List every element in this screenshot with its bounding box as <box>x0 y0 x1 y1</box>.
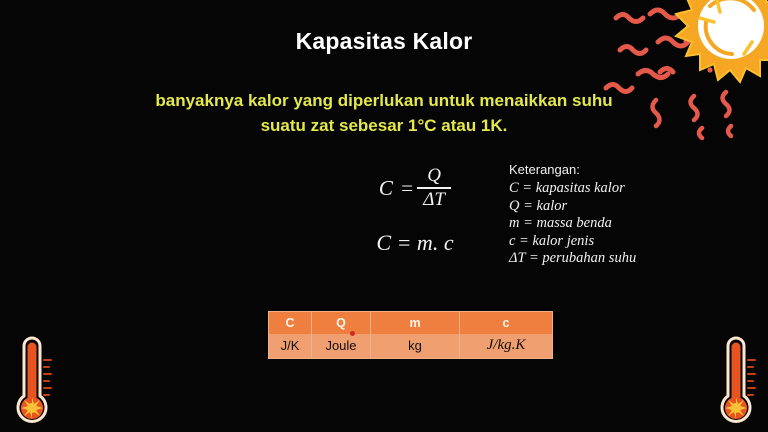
legend-item: c = kalor jenis <box>509 233 636 251</box>
table-header-cell: m <box>371 312 460 334</box>
formula-capacity: C = Q ΔT <box>330 160 500 216</box>
legend-item: ΔT = perubahan suhu <box>509 250 636 268</box>
table-header-cell: Q <box>312 312 371 334</box>
formula1-fraction: Q ΔT <box>417 166 451 209</box>
legend-block: Keterangan: C = kapasitas kalor Q = kalo… <box>509 161 636 268</box>
table-header-cell: C <box>269 312 312 334</box>
formula1-numerator: Q <box>421 166 447 187</box>
unit-table: C Q m c J/K Joule kg J/kg.K <box>268 311 553 359</box>
unit-table-body: J/K Joule kg J/kg.K <box>269 334 553 359</box>
definition-line-1: banyaknya kalor yang diperlukan untuk me… <box>155 91 612 110</box>
page-title: Kapasitas Kalor <box>0 28 768 55</box>
legend-item: Q = kalor <box>509 198 636 216</box>
unit-table-header: C Q m c <box>269 312 553 334</box>
formula-block: C = Q ΔT C = m. c <box>330 160 500 256</box>
table-cell: kg <box>371 334 460 359</box>
legend-heading: Keterangan: <box>509 161 636 179</box>
table-cell: J/K <box>269 334 312 359</box>
table-row: C Q m c <box>269 312 553 334</box>
legend-item: C = kapasitas kalor <box>509 180 636 198</box>
cursor-marker-dot <box>350 331 355 336</box>
thermometer-icon-right <box>708 334 764 430</box>
definition-line-2: suatu zat sebesar 1°C atau 1K. <box>0 113 768 138</box>
formula1-equals: = <box>400 176 414 201</box>
slide-canvas: Kapasitas Kalor banyaknya kalor yang dip… <box>0 0 768 432</box>
table-header-cell: c <box>460 312 553 334</box>
definition-text: banyaknya kalor yang diperlukan untuk me… <box>0 88 768 138</box>
formula-mass-specific: C = m. c <box>330 230 500 256</box>
table-cell: J/kg.K <box>460 334 553 359</box>
table-cell: Joule <box>312 334 371 359</box>
formula1-denominator: ΔT <box>417 189 451 210</box>
formula1-lhs: C <box>379 176 393 201</box>
table-row: J/K Joule kg J/kg.K <box>269 334 553 359</box>
legend-list: C = kapasitas kalor Q = kalor m = massa … <box>509 180 636 268</box>
thermometer-icon-left <box>4 334 60 430</box>
legend-item: m = massa benda <box>509 215 636 233</box>
